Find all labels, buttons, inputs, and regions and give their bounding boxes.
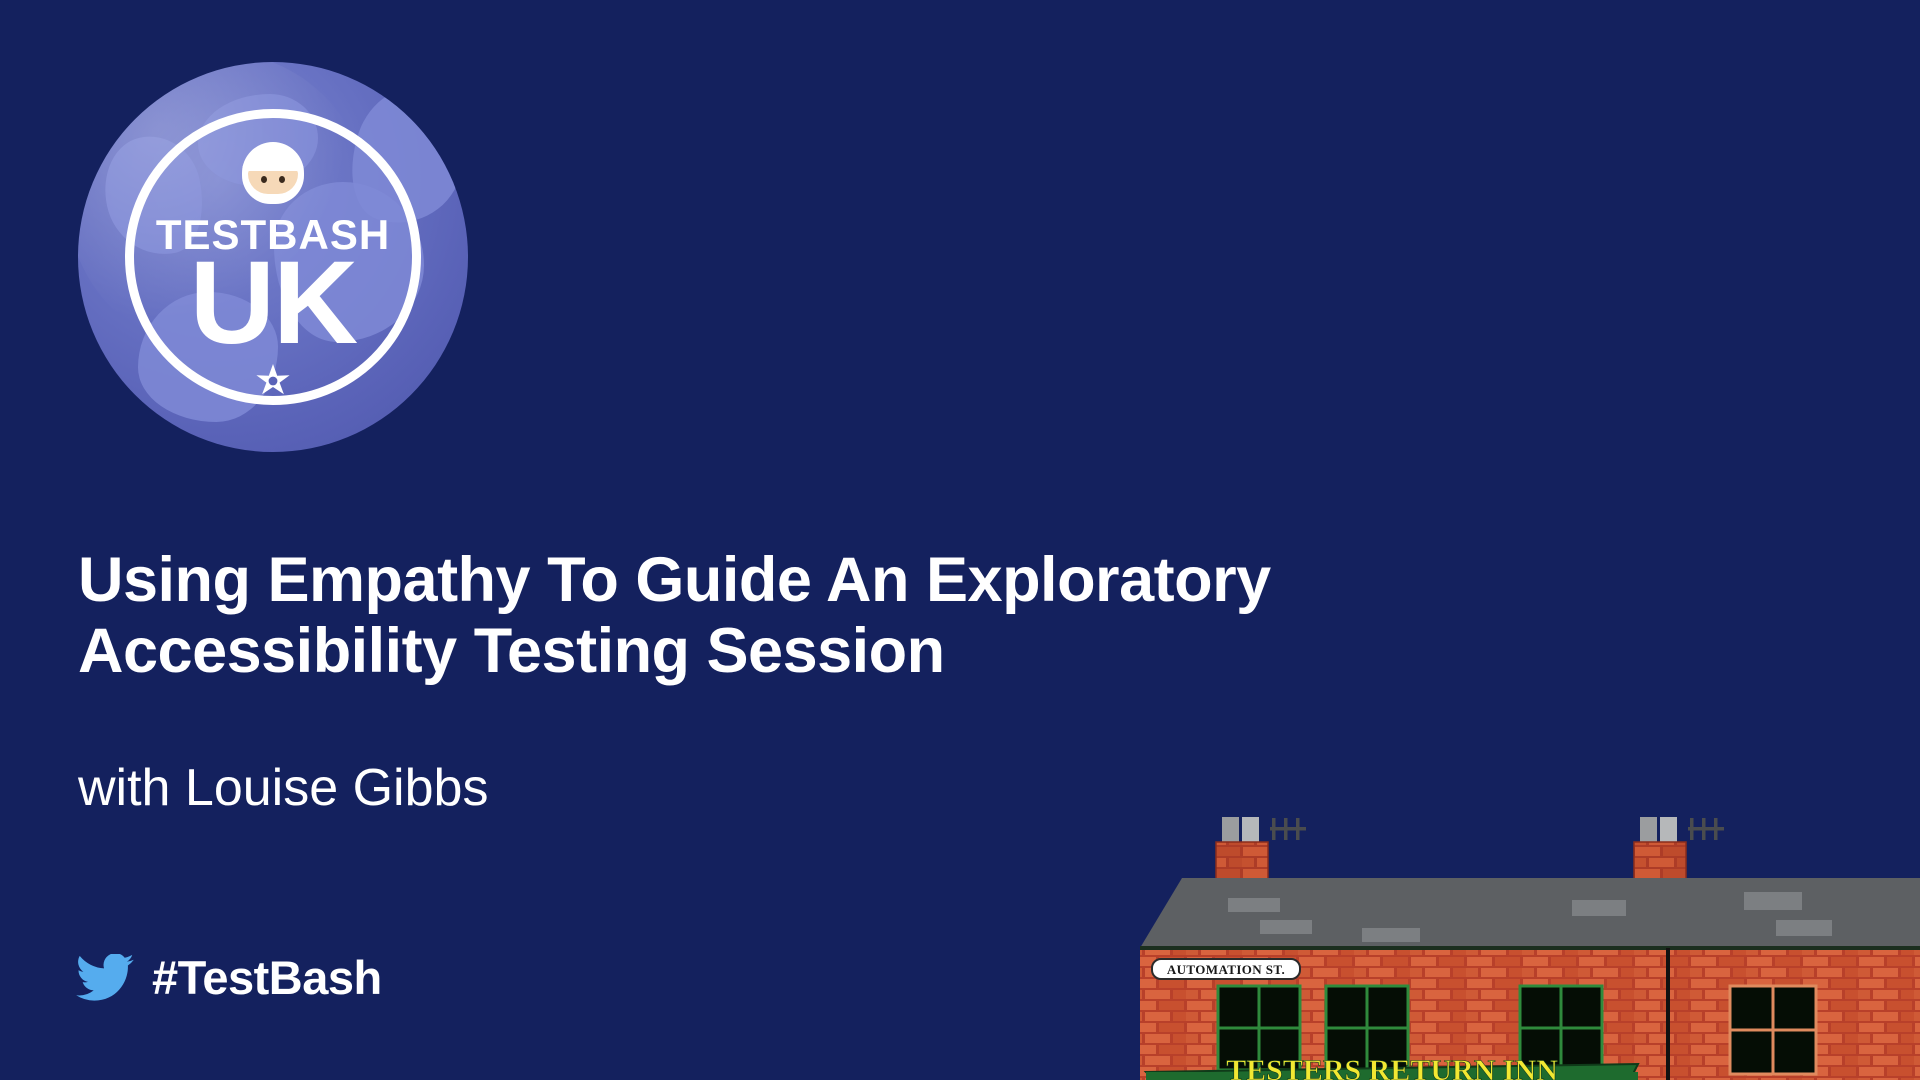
logo-text-uk: UK xyxy=(78,244,468,362)
pub-illustration: AUTOMATION ST. xyxy=(1130,780,1920,1080)
twitter-bird-icon xyxy=(76,954,134,1002)
hashtag-label: #TestBash xyxy=(152,950,382,1005)
ninja-face-band xyxy=(242,164,304,171)
street-sign: AUTOMATION ST. xyxy=(1152,959,1300,979)
ninja-face-skin xyxy=(248,168,298,194)
ninja-face-icon xyxy=(242,142,304,204)
chimney-right xyxy=(1634,817,1724,887)
star-icon xyxy=(253,362,293,402)
talk-title: Using Empathy To Guide An Exploratory Ac… xyxy=(78,545,1578,687)
slide-canvas: TESTBASH UK Using Empathy To Guide An Ex… xyxy=(0,0,1920,1080)
testbash-uk-logo: TESTBASH UK xyxy=(78,62,468,452)
talk-presenter: with Louise Gibbs xyxy=(78,760,488,817)
roof xyxy=(1140,878,1920,948)
social-hashtag-row: #TestBash xyxy=(76,950,382,1005)
pub-sign-label: TESTERS RETURN INN xyxy=(1226,1054,1558,1080)
ninja-eye-right-icon xyxy=(279,176,285,183)
chimney-left xyxy=(1216,817,1306,887)
street-sign-label: AUTOMATION ST. xyxy=(1167,962,1285,977)
ninja-eye-left-icon xyxy=(261,176,267,183)
talk-title-line2: Accessibility Testing Session xyxy=(78,616,1578,687)
talk-title-line1: Using Empathy To Guide An Exploratory xyxy=(78,545,1271,615)
